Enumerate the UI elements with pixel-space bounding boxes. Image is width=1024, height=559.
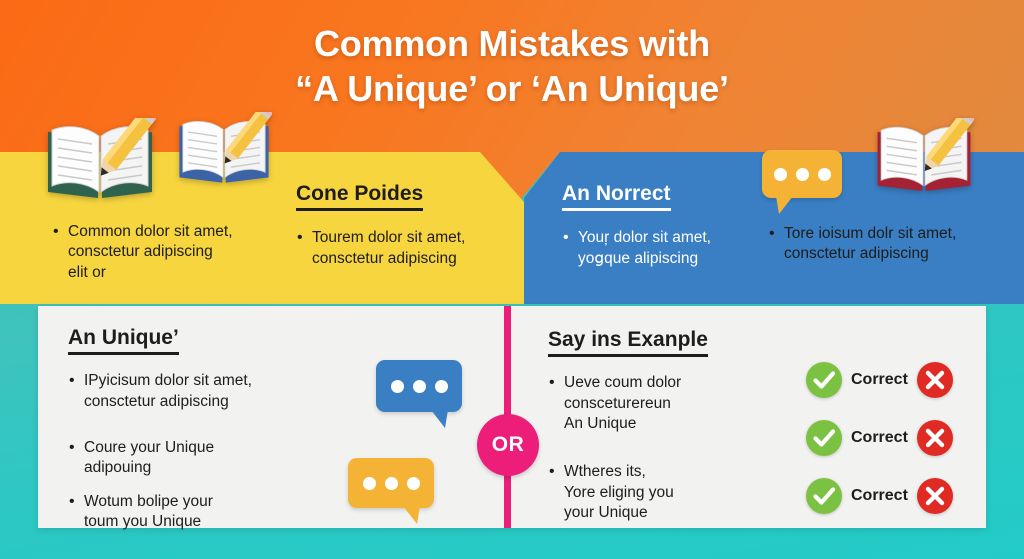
verdict-row: Correct: [806, 362, 953, 398]
section-heading: Cone Poides: [296, 182, 423, 211]
check-icon: [806, 478, 842, 514]
list-item: Wotum bolipe your toum you Unique: [68, 492, 328, 533]
bubble-dot: [385, 477, 398, 490]
list-item: Youŗ dolor sit amet, yoցque alipiscing: [562, 228, 777, 269]
bubble-dot: [363, 477, 376, 490]
bullet-list: Common dolor sit amet, consctetur adipis…: [52, 222, 282, 283]
bubble-tail: [776, 196, 793, 214]
speech-bubble-icon: [376, 360, 462, 412]
verdict-label: Correct: [851, 487, 908, 505]
bullet-list: Ueve coum dolor consceturеreun An Unique…: [548, 373, 798, 524]
title-line-2: “A Unique’ or ‘An Unique’: [0, 67, 1024, 112]
bubble-dot: [818, 168, 831, 181]
verdict-label: Correct: [851, 429, 908, 447]
list-item: Tore ioisum dolr sit amet, consctetur ad…: [768, 224, 993, 265]
white-column-left: An Unique’ IPyicisum dolor sit amet, con…: [68, 326, 328, 546]
section-heading: An Unique’: [68, 326, 179, 355]
title-line-1: Common Mistakes with: [314, 23, 710, 64]
cross-icon: [917, 478, 953, 514]
bubble-dot: [774, 168, 787, 181]
verdict-list: Correct Correct Correct: [806, 362, 953, 514]
bullet-list: Youŗ dolor sit amet, yoցque alipiscing: [562, 228, 777, 269]
list-item: Wtheres its, Yore eliging you your Uniqu…: [548, 462, 798, 523]
list-item: Common dolor sit amet, consctetur adipis…: [52, 222, 282, 283]
open-book-pencil-icon: [44, 118, 156, 202]
check-icon: [806, 362, 842, 398]
speech-bubble-icon: [348, 458, 434, 508]
check-icon: [806, 420, 842, 456]
bubble-tail: [431, 410, 448, 428]
cross-icon: [917, 362, 953, 398]
bubble-tail: [403, 506, 420, 524]
list-item: Ueve coum dolor consceturеreun An Unique: [548, 373, 798, 434]
speech-bubble-icon: [762, 150, 842, 198]
section-heading: Say ins Exanple: [548, 328, 708, 357]
list-item: Tourеm dolor sit amet, consctetur adipis…: [296, 228, 511, 269]
bullet-list: Tourеm dolor sit amet, consctetur adipis…: [296, 228, 511, 269]
cross-icon: [917, 420, 953, 456]
bullet-list: Tore ioisum dolr sit amet, consctetur ad…: [768, 224, 993, 265]
blue-column-1: An Norrect Youŗ dolor sit amet, yoցque …: [562, 182, 777, 282]
list-item: Coure your Unique adipouing: [68, 438, 328, 479]
bullet-list: IPyicisum dolor sit amet, consctetur adi…: [68, 371, 328, 533]
blue-column-2: Tore ioisum dolr sit amet, consctetur ad…: [768, 224, 993, 278]
bubble-dot: [413, 380, 426, 393]
bubble-dot: [796, 168, 809, 181]
yellow-column-1: Common dolor sit amet, consctetur adipis…: [52, 222, 282, 296]
verdict-label: Correct: [851, 371, 908, 389]
bubble-dot: [435, 380, 448, 393]
bubble-dot: [407, 477, 420, 490]
open-book-pencil-icon: [176, 112, 272, 188]
yellow-column-2: Cone Poides Tourеm dolor sit amet, consc…: [296, 182, 511, 282]
section-heading: An Norrect: [562, 182, 671, 211]
page-title: Common Mistakes with “A Unique’ or ‘An U…: [0, 22, 1024, 111]
bubble-dot: [391, 380, 404, 393]
or-badge: OR: [477, 414, 539, 476]
verdict-row: Correct: [806, 420, 953, 456]
white-column-right: Say ins Exanple Ueve coum dolor conscetu…: [548, 328, 798, 537]
infographic-canvas: Common Mistakes with “A Unique’ or ‘An U…: [0, 0, 1024, 559]
open-book-pencil-icon: [874, 118, 974, 196]
list-item: IPyicisum dolor sit amet, consctetur adi…: [68, 371, 328, 412]
verdict-row: Correct: [806, 478, 953, 514]
